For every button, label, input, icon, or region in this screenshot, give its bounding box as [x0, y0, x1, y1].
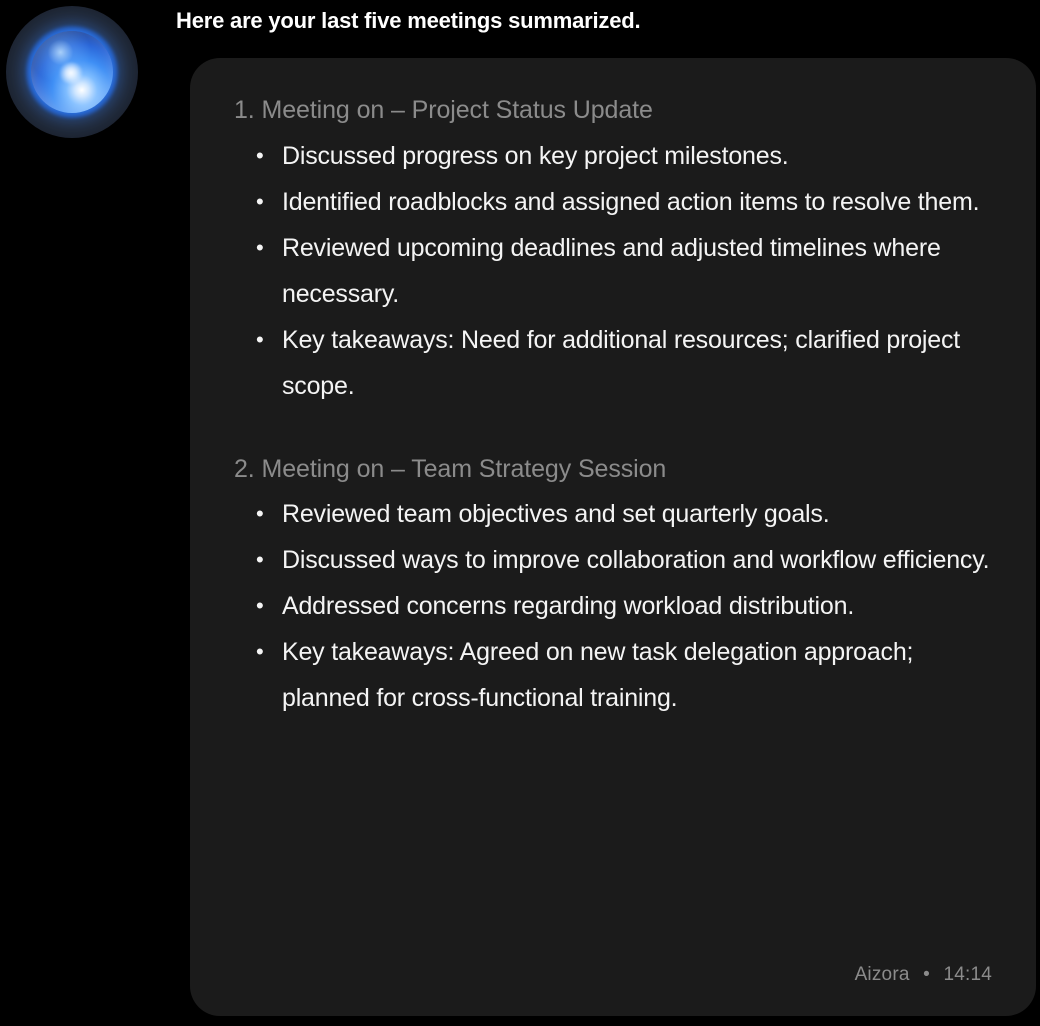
sender-name: Aizora — [855, 964, 910, 985]
meta-separator: • — [923, 964, 930, 985]
list-item: Key takeaways: Need for additional resou… — [234, 317, 1002, 409]
list-item: Addressed concerns regarding workload di… — [234, 583, 1002, 629]
assistant-orb-icon[interactable] — [6, 6, 138, 138]
orb-specular-highlight — [58, 62, 84, 84]
meeting-bullet-list: Discussed progress on key project milest… — [234, 133, 1002, 409]
list-item: Identified roadblocks and assigned actio… — [234, 179, 1002, 225]
assistant-message-bubble: 1. Meeting on – Project Status Update Di… — [190, 58, 1036, 1016]
list-item: Reviewed upcoming deadlines and adjusted… — [234, 225, 1002, 317]
assistant-header-text: Here are your last five meetings summari… — [176, 8, 640, 34]
meeting-title: 1. Meeting on – Project Status Update — [234, 94, 1002, 127]
list-item: Reviewed team objectives and set quarter… — [234, 491, 1002, 537]
list-item: Discussed ways to improve collaboration … — [234, 537, 1002, 583]
meeting-bullet-list: Reviewed team objectives and set quarter… — [234, 491, 1002, 721]
meeting-section: 2. Meeting on – Team Strategy Session Re… — [234, 453, 1002, 722]
message-meta: Aizora • 14:14 — [855, 964, 992, 986]
list-item: Discussed progress on key project milest… — [234, 133, 1002, 179]
meeting-section: 1. Meeting on – Project Status Update Di… — [234, 94, 1002, 409]
assistant-response-screen: Here are your last five meetings summari… — [0, 0, 1040, 1026]
message-timestamp: 14:14 — [943, 964, 992, 985]
list-item: Key takeaways: Agreed on new task delega… — [234, 629, 1002, 721]
meeting-title: 2. Meeting on – Team Strategy Session — [234, 453, 1002, 486]
